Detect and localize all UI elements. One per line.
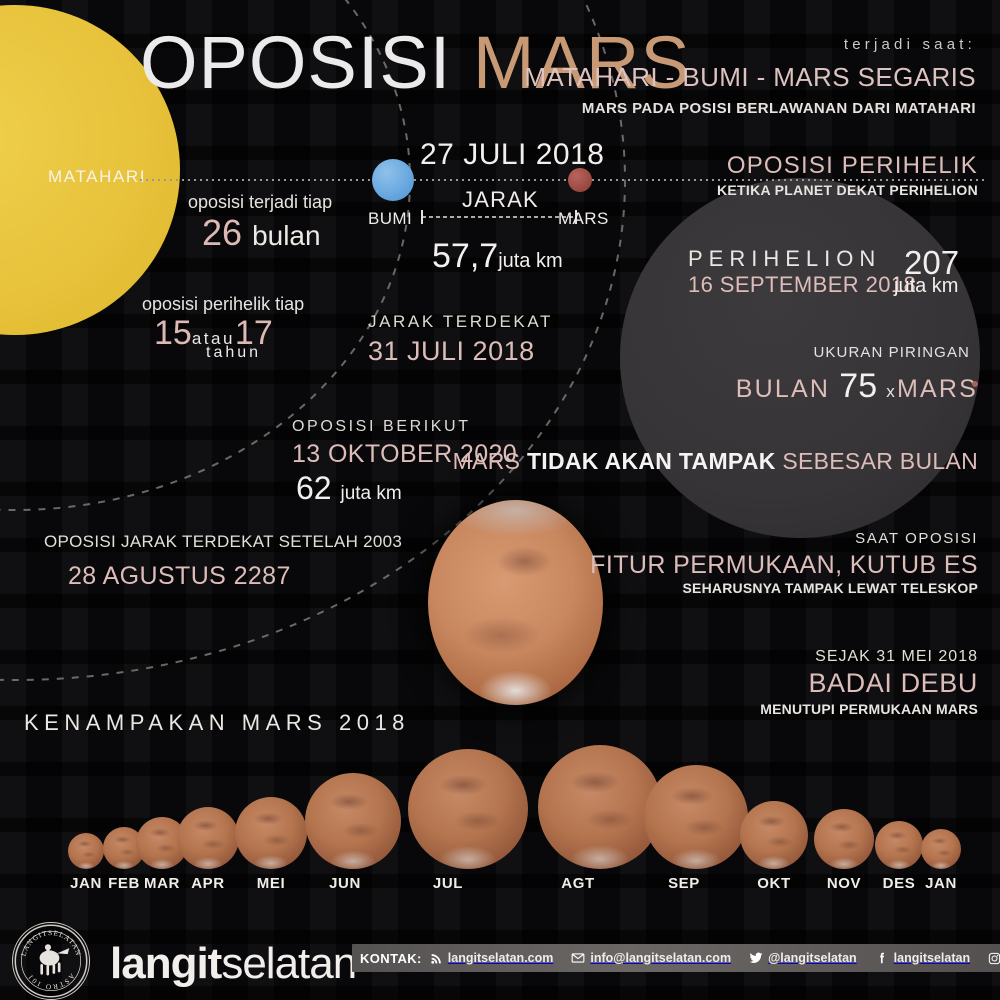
phase-item: MEI [231, 797, 311, 892]
contact-twitter-text: @langitselatan [768, 951, 857, 965]
phase-month-label: JUN [305, 875, 385, 892]
next-opposition-distance: 62 juta km [296, 470, 402, 507]
not-as-big-tail: SEBESAR BULAN [782, 448, 978, 474]
brand-light: selatan [221, 939, 356, 988]
kontak-label: KONTAK: [360, 951, 422, 966]
disk-size-moon: BULAN [736, 375, 830, 403]
surface-features-kicker: SAAT OPOSISI [855, 530, 978, 547]
top-right-sub: MARS PADA POSISI BERLAWANAN DARI MATAHAR… [582, 100, 976, 117]
closest-after-2003-label: OPOSISI JARAK TERDEKAT SETELAH 2003 [44, 532, 402, 552]
perihelic-opposition-sub: KETIKA PLANET DEKAT PERIHELION [717, 182, 978, 198]
not-as-big-bold: TIDAK AKAN TAMPAK [527, 448, 776, 474]
contact-facebook[interactable]: langitselatan [875, 951, 970, 965]
opposition-distance-unit: juta km [498, 250, 562, 272]
twitter-icon [749, 951, 763, 965]
perihelic-interval-label: oposisi perihelik tiap [142, 294, 304, 315]
perihelion-date: 16 SEPTEMBER 2018 [688, 272, 916, 298]
next-opposition-value: 62 [296, 470, 332, 506]
mars-disk [235, 797, 307, 869]
dust-storm-kicker: SEJAK 31 MEI 2018 [815, 648, 978, 666]
opposition-date: 27 JULI 2018 [420, 138, 604, 172]
mars-disk [921, 829, 961, 869]
not-as-big-lead: MARS [453, 448, 521, 474]
opposition-distance-value: 57,7 [432, 237, 498, 275]
langitselatan-seal-logo: LANGITSELATAN ASTRO 101 [12, 922, 90, 1000]
mars-label: MARS [558, 209, 609, 229]
title-part-1: OPOSISI [140, 21, 451, 104]
disk-size-mars: MARS [897, 375, 978, 403]
mars-disk [740, 801, 808, 869]
opposition-distance: 57,7juta km [432, 237, 563, 276]
rss-icon [430, 952, 443, 965]
contact-instagram[interactable]: langitselatanmedia [988, 951, 1000, 965]
perihelic-opposition-title: OPOSISI PERIHELIK [727, 152, 978, 180]
phase-month-label: OKT [734, 875, 814, 892]
phase-item: OKT [734, 801, 814, 892]
instagram-icon [988, 952, 1000, 965]
mars-apparent-size-chart: JANFEBMARAPRMEIJUNJULAGTSEPOKTNOVDESJAN [0, 760, 1000, 920]
infographic-poster: MATAHARI OPOSISI MARS terjadi saat: MATA… [0, 0, 1000, 1000]
distance-label: JARAK [462, 187, 539, 213]
contact-website[interactable]: langitselatan.com [430, 951, 554, 965]
brand-wordmark: langitselatan [110, 939, 356, 989]
phase-month-label: MEI [231, 875, 311, 892]
contact-bar: KONTAK: langitselatan.com info@langitsel… [352, 944, 1000, 972]
perihelic-interval-unit: tahun [206, 344, 261, 362]
earth-label: BUMI [368, 209, 412, 229]
phase-item: JUL [408, 749, 488, 892]
dust-storm-headline: BADAI DEBU [808, 668, 978, 699]
seal-bottom-text: ASTRO 101 [26, 972, 76, 991]
top-right-headline: MATAHARI - BUMI - MARS SEGARIS [524, 62, 976, 93]
mars-disk [305, 773, 401, 869]
top-right-kicker: terjadi saat: [844, 36, 976, 53]
phase-month-label: SEP [644, 875, 724, 892]
surface-features-headline: FITUR PERMUKAAN, KUTUB ES [590, 551, 978, 580]
interval-value: 26 [202, 212, 242, 253]
mars-size-dot [972, 381, 978, 387]
contact-twitter[interactable]: @langitselatan [749, 951, 857, 965]
contact-email[interactable]: info@langitselatan.com [571, 951, 731, 965]
phases-heading: KENAMPAKAN MARS 2018 [24, 710, 410, 736]
perihelion-label: PERIHELION [688, 246, 881, 272]
dust-storm-sub: MENUTUPI PERMUKAAN MARS [760, 701, 978, 717]
phase-item: AGT [538, 745, 618, 892]
mars-disk [644, 765, 748, 869]
next-opposition-label: OPOSISI BERIKUT [292, 418, 471, 436]
phase-month-label: JUL [408, 875, 488, 892]
phase-item: JUN [305, 773, 385, 892]
contact-email-text: info@langitselatan.com [590, 951, 731, 965]
mars-disk [408, 749, 528, 869]
phase-month-label: JAN [901, 875, 981, 892]
envelope-icon [571, 951, 585, 965]
contact-facebook-text: langitselatan [894, 951, 970, 965]
disk-size-label: UKURAN PIRINGAN [813, 344, 970, 361]
not-as-big-statement: MARS TIDAK AKAN TAMPAK SEBESAR BULAN [453, 448, 978, 475]
contact-website-text: langitselatan.com [448, 951, 554, 965]
brand-bold: langit [110, 939, 221, 988]
surface-features-sub: SEHARUSNYA TAMPAK LEWAT TELESKOP [683, 580, 979, 596]
perihelion-unit: juta km [894, 275, 958, 298]
svg-text:ASTRO 101: ASTRO 101 [26, 972, 76, 991]
next-opposition-unit: juta km [340, 483, 401, 504]
closest-date: 31 JULI 2018 [368, 336, 535, 367]
interval-unit: bulan [252, 220, 321, 251]
disk-size-times: x [886, 382, 897, 401]
interval-value-row: 26 bulan [202, 212, 321, 254]
closest-after-2003-date: 28 AGUSTUS 2287 [68, 562, 291, 591]
closest-label: JARAK TERDEKAT [368, 312, 553, 332]
phase-month-label: AGT [538, 875, 618, 892]
mars-telescope-image [428, 500, 603, 705]
phase-item: SEP [644, 765, 724, 892]
perihelic-value-a: 15 [154, 314, 192, 352]
disk-size-factor: 75 [839, 367, 877, 405]
footer: LANGITSELATAN ASTRO 101 langitselatan KO… [0, 918, 1000, 1000]
disk-size-comparison: BULAN 75 xMARS [736, 367, 978, 406]
facebook-icon [875, 951, 889, 965]
earth-planet-dot [372, 159, 414, 201]
mars-disk [177, 807, 239, 869]
phase-item: JAN [901, 829, 981, 892]
interval-label: oposisi terjadi tiap [188, 192, 332, 213]
